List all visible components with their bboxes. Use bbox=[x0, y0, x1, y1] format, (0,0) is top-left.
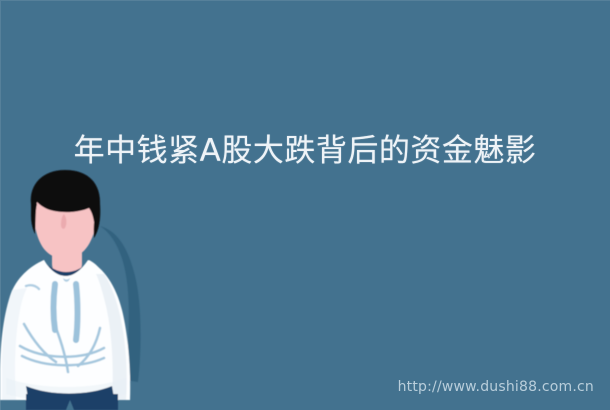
article-banner: 年中钱紧A股大跌背后的资金魅影 http://www.dushi88.com.c… bbox=[0, 0, 610, 410]
watermark-url: http://www.dushi88.com.cn bbox=[398, 378, 594, 396]
illustration-young-man-in-white-hoodie bbox=[0, 168, 150, 410]
page-title: 年中钱紧A股大跌背后的资金魅影 bbox=[0, 131, 610, 171]
hoodie bbox=[0, 260, 130, 402]
